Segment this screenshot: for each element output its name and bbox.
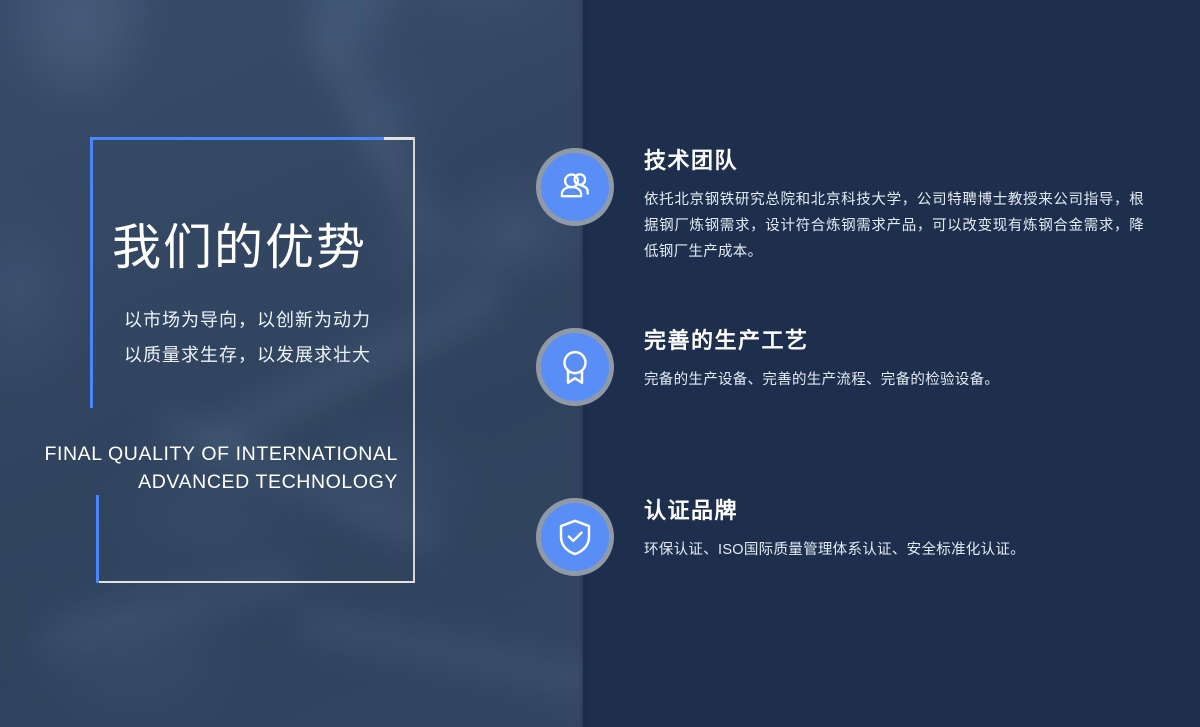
feature-item-certification: 认证品牌 环保认证、ISO国际质量管理体系认证、安全标准化认证。	[583, 498, 1144, 563]
feature-title: 认证品牌	[644, 498, 1144, 524]
feature-title: 技术团队	[644, 148, 1144, 174]
frame-left-accent-lower	[96, 495, 99, 583]
advantages-banner: 我们的优势 以市场为导向，以创新为动力 以质量求生存，以发展求壮大 FINAL …	[0, 0, 1200, 727]
frame-right-line	[413, 137, 415, 583]
frame-top-accent-line	[90, 137, 386, 140]
features-panel: 技术团队 依托北京钢铁研究总院和北京科技大学，公司特聘博士教授来公司指导，根据钢…	[583, 0, 1200, 727]
feature-item-process: 完善的生产工艺 完备的生产设备、完善的生产流程、完备的检验设备。	[583, 328, 1144, 393]
page-title: 我们的优势	[112, 224, 367, 273]
users-group-icon	[536, 148, 614, 226]
subtitle-line-1: 以市场为导向，以创新为动力	[124, 303, 371, 338]
feature-text-block: 技术团队 依托北京钢铁研究总院和北京科技大学，公司特聘博士教授来公司指导，根据钢…	[644, 148, 1144, 265]
feature-description: 依托北京钢铁研究总院和北京科技大学，公司特聘博士教授来公司指导，根据钢厂炼钢需求…	[644, 187, 1144, 265]
english-line-2: ADVANCED TECHNOLOGY	[26, 468, 398, 496]
english-line-1: FINAL QUALITY OF INTERNATIONAL	[26, 440, 398, 468]
page-subtitle: 以市场为导向，以创新为动力 以质量求生存，以发展求壮大	[124, 303, 371, 373]
feature-item-team: 技术团队 依托北京钢铁研究总院和北京科技大学，公司特聘博士教授来公司指导，根据钢…	[583, 148, 1144, 265]
award-medal-icon	[536, 328, 614, 406]
feature-description: 完备的生产设备、完善的生产流程、完备的检验设备。	[644, 367, 1144, 393]
frame-bottom-line	[96, 581, 415, 583]
english-tagline: FINAL QUALITY OF INTERNATIONAL ADVANCED …	[26, 440, 398, 496]
feature-description: 环保认证、ISO国际质量管理体系认证、安全标准化认证。	[644, 537, 1144, 563]
feature-text-block: 认证品牌 环保认证、ISO国际质量管理体系认证、安全标准化认证。	[644, 498, 1144, 563]
shield-check-icon	[536, 498, 614, 576]
frame-top-light-line	[384, 137, 415, 140]
subtitle-line-2: 以质量求生存，以发展求壮大	[124, 338, 371, 373]
feature-text-block: 完善的生产工艺 完备的生产设备、完善的生产流程、完备的检验设备。	[644, 328, 1144, 393]
feature-title: 完善的生产工艺	[644, 328, 1144, 354]
left-panel: 我们的优势 以市场为导向，以创新为动力 以质量求生存，以发展求壮大 FINAL …	[0, 0, 583, 727]
frame-left-accent-upper	[90, 137, 93, 408]
